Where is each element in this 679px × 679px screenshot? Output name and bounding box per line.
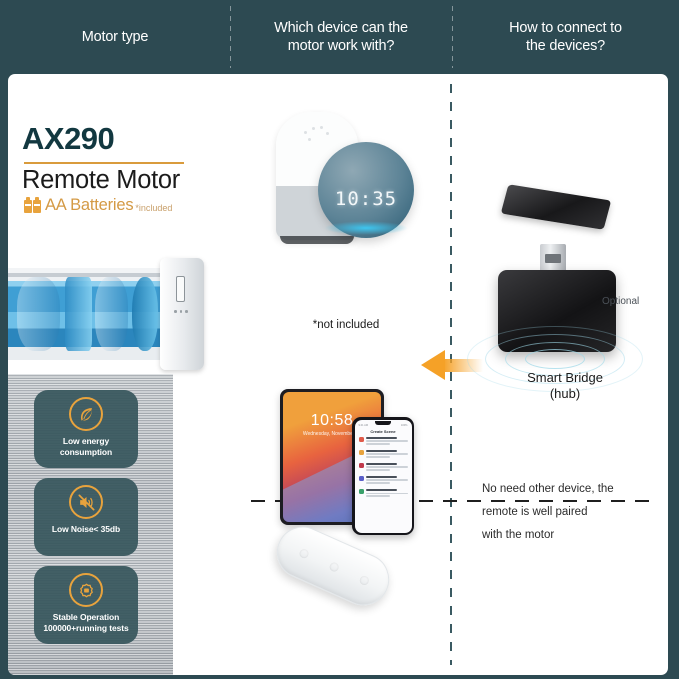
smart-bridge-image: [488, 192, 658, 452]
echo-dot-speaker: 10:35: [318, 142, 414, 238]
echo-light-ring: [324, 221, 408, 235]
smart-speakers-image: 10:35: [256, 104, 436, 284]
optional-label: Optional: [602, 296, 639, 307]
feature-badge-text-2: Low Noise< 35db: [48, 524, 124, 535]
phone-notch: [375, 421, 391, 425]
hub-usb-cap: [501, 184, 612, 229]
remote-control-image: [270, 522, 398, 642]
list-item[interactable]: [359, 437, 408, 447]
motor-head-dots: [174, 310, 188, 313]
product-title-block: AX290 Remote Motor AA Batteries *include…: [22, 121, 232, 215]
remote-button-up: [298, 548, 310, 560]
phone-device: 9:41 AM 100% Create Scene: [352, 417, 414, 535]
remote-pairing-note: No need other device, the remote is well…: [482, 478, 652, 547]
header-column-device-compat: Which device can themotor work with?: [230, 0, 452, 74]
note-line-3: with the motor: [482, 529, 554, 541]
header-column-how-to-connect: How to connect tothe devices?: [452, 0, 679, 74]
scene-icon: [359, 476, 364, 481]
echo-clock-display: 10:35: [318, 188, 414, 210]
battery-note: *included: [135, 203, 172, 213]
leaf-icon: [69, 397, 103, 431]
feature-badge-text-1: Low energy consumption: [56, 436, 116, 457]
feature-badge-low-energy: Low energy consumption: [34, 390, 138, 468]
speaker-base-shadow: [280, 236, 354, 244]
note-line-1: No need other device, the: [482, 483, 614, 495]
motor-head: [160, 258, 204, 370]
header-column-motor-type: Motor type: [0, 0, 230, 74]
battery-label: AA Batteries: [45, 196, 133, 215]
motor-product-image: [8, 254, 208, 374]
feature-badge-text-3: Stable Operation 100000+running tests: [39, 612, 132, 633]
scene-icon: [359, 437, 364, 442]
title-rule: [24, 162, 184, 164]
header-label-2: Which device can themotor work with?: [274, 19, 408, 55]
feature-badge-low-noise: Low Noise< 35db: [34, 478, 138, 556]
hub-label-line-2: (hub): [550, 386, 580, 401]
smart-bridge-label: Smart Bridge (hub): [470, 370, 660, 403]
product-name: Remote Motor: [22, 166, 232, 194]
remote-button-stop: [328, 561, 340, 573]
gear-icon: [69, 573, 103, 607]
note-line-2: remote is well paired: [482, 506, 587, 518]
battery-icon: [24, 200, 41, 213]
header-bar: Motor type Which device can themotor wor…: [0, 0, 679, 74]
remote-button-down: [358, 575, 370, 587]
motor-head-slot: [176, 276, 185, 302]
phone-screen: 9:41 AM 100% Create Scene: [355, 420, 412, 533]
list-item[interactable]: [359, 476, 408, 486]
list-item[interactable]: [359, 489, 408, 499]
not-included-note: *not included: [256, 319, 436, 331]
header-label-1: Motor type: [82, 28, 149, 46]
remote-body: [269, 518, 398, 613]
motor-tube-cutaway: [8, 268, 170, 360]
list-item[interactable]: [359, 463, 408, 473]
scene-icon: [359, 489, 364, 494]
mute-speaker-icon: [69, 485, 103, 519]
speaker-top-dots: [302, 126, 336, 142]
phone-app-title: Create Scene: [359, 429, 408, 434]
tablet-and-phone-image: 10:58 Wednesday, November 11 9:41 AM 100…: [280, 389, 440, 539]
scene-icon: [359, 463, 364, 468]
hub-label-line-1: Smart Bridge: [527, 370, 603, 385]
phone-status-battery: 100%: [401, 424, 408, 427]
header-label-3: How to connect tothe devices?: [509, 19, 622, 55]
wood-texture-backdrop: Low energy consumption Low Noise< 35db: [8, 374, 173, 675]
battery-line: AA Batteries *included: [24, 196, 232, 215]
feature-badge-stable-operation: Stable Operation 100000+running tests: [34, 566, 138, 644]
scene-icon: [359, 450, 364, 455]
list-item[interactable]: [359, 450, 408, 460]
left-panel: AX290 Remote Motor AA Batteries *include…: [8, 74, 230, 675]
phone-status-time: 9:41 AM: [359, 424, 369, 427]
product-model: AX290: [22, 121, 232, 157]
